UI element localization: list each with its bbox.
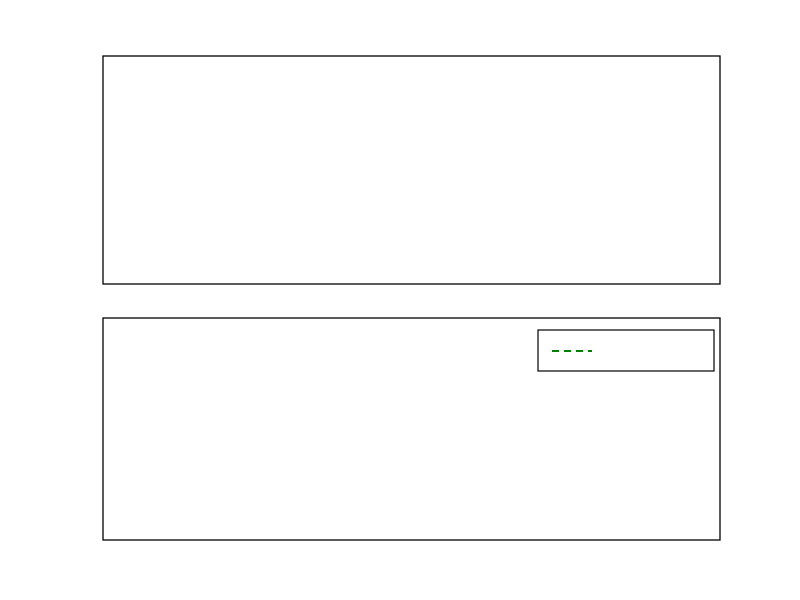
- top-histogram-panel: [103, 56, 720, 284]
- matplotlib-figure: [0, 0, 800, 600]
- legend[interactable]: [538, 330, 714, 371]
- figure-canvas: [0, 0, 800, 600]
- top-plot-area: [103, 56, 720, 284]
